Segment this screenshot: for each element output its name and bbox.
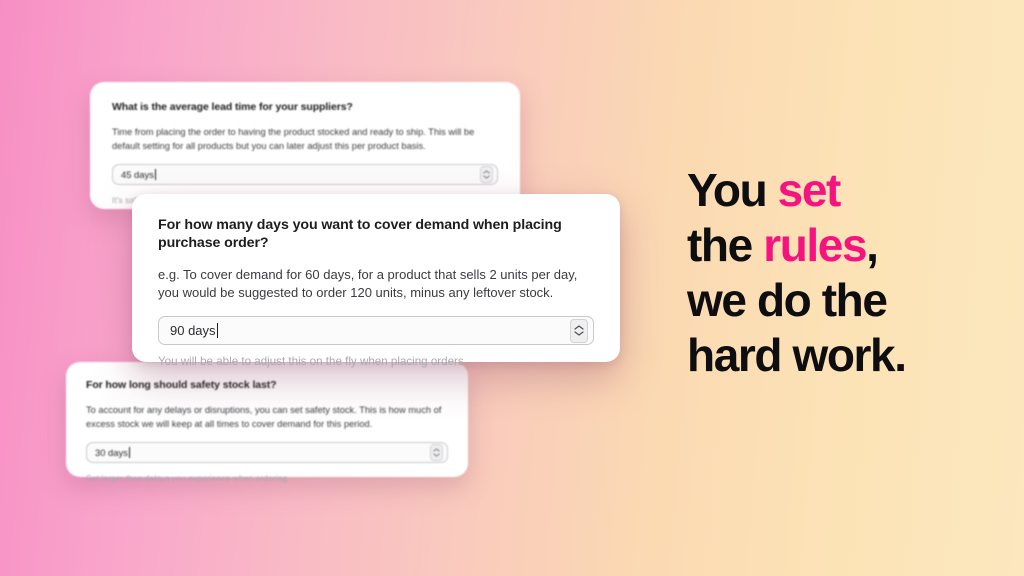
question-card-safety-stock: For how long should safety stock last? T… xyxy=(66,362,468,477)
text-caret xyxy=(155,169,156,180)
question-description: Time from placing the order to having th… xyxy=(112,125,498,153)
lead-time-stepper[interactable] xyxy=(480,166,493,183)
question-card-lead-time: What is the average lead time for your s… xyxy=(90,82,520,209)
headline-line-1: You set xyxy=(687,163,1007,218)
question-description: e.g. To cover demand for 60 days, for a … xyxy=(158,266,594,301)
text-caret xyxy=(217,323,218,338)
chevron-up-icon xyxy=(483,170,490,174)
demand-cover-stepper[interactable] xyxy=(570,319,588,343)
question-description: To account for any delays or disruptions… xyxy=(86,403,448,431)
headline-line-2-plain: the xyxy=(687,219,763,271)
headline-accent-set: set xyxy=(778,164,840,216)
question-help-text: Set larger than delays you experience wh… xyxy=(86,472,448,484)
safety-stock-input-value: 30 days xyxy=(95,447,128,458)
question-title: For how many days you want to cover dema… xyxy=(158,216,594,252)
lead-time-input[interactable]: 45 days xyxy=(112,164,498,185)
headline-accent-rules: rules xyxy=(763,219,866,271)
headline-line-4: hard work. xyxy=(687,328,1007,383)
demand-cover-input-value: 90 days xyxy=(170,323,216,338)
safety-stock-stepper[interactable] xyxy=(430,444,443,461)
question-help-text: You will be able to adjust this on the f… xyxy=(158,354,594,369)
chevron-up-icon xyxy=(574,325,584,330)
headline-line-2-tail: , xyxy=(866,219,877,271)
question-card-demand-cover: For how many days you want to cover dema… xyxy=(132,194,620,362)
chevron-down-icon xyxy=(483,175,490,179)
question-title: What is the average lead time for your s… xyxy=(112,100,498,114)
chevron-down-icon xyxy=(574,331,584,336)
headline-line-3: we do the xyxy=(687,273,1007,328)
text-caret xyxy=(129,447,130,458)
promo-banner: What is the average lead time for your s… xyxy=(0,0,1024,576)
marketing-headline: You set the rules, we do the hard work. xyxy=(687,163,1007,383)
demand-cover-input[interactable]: 90 days xyxy=(158,316,594,345)
safety-stock-input[interactable]: 30 days xyxy=(86,442,448,463)
chevron-up-icon xyxy=(433,448,440,452)
headline-line-2: the rules, xyxy=(687,218,1007,273)
headline-line-1-plain: You xyxy=(687,164,778,216)
question-title: For how long should safety stock last? xyxy=(86,378,448,392)
lead-time-input-value: 45 days xyxy=(121,169,154,180)
chevron-down-icon xyxy=(433,453,440,457)
